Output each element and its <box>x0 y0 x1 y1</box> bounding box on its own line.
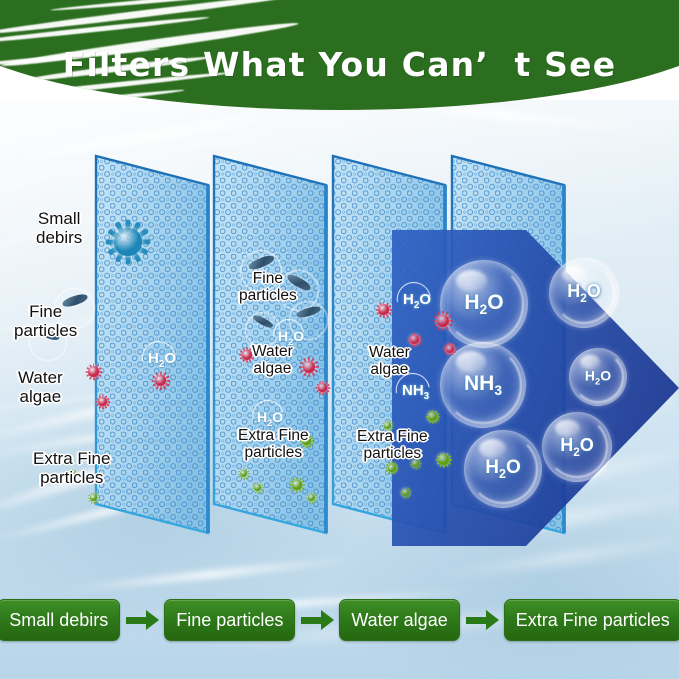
particle-algae-5 <box>300 358 318 376</box>
particle-extrafine-12 <box>436 452 451 467</box>
particle-extrafine-3 <box>238 468 249 479</box>
legend-flow-bar: Small debirsFine particlesWater algaeExt… <box>0 597 679 643</box>
bubble-label: H2O <box>543 435 611 459</box>
bubble-label: H2O <box>550 281 618 305</box>
legend-water-algae[interactable]: Water algae <box>339 599 459 641</box>
bubble-bubble-h2o-d: H2O <box>542 412 612 482</box>
particle-extrafine-5 <box>252 482 263 493</box>
label-fine-particles-2: Fine particles <box>239 271 297 304</box>
particle-algae-3 <box>96 395 109 408</box>
molecule-h2o-mesh-1: H2O <box>148 350 176 370</box>
legend-fine-particles-label: Fine particles <box>176 610 283 631</box>
particle-algae-10 <box>444 343 456 355</box>
bubble-bubble-h2o-e: H2O <box>464 430 542 508</box>
legend-water-algae-label: Water algae <box>351 610 447 631</box>
particle-algae-6 <box>316 381 329 394</box>
label-water-algae-2: Water algae <box>252 344 293 377</box>
molecule-h2o-mesh-4: H2O <box>403 291 431 311</box>
particle-small-debris-1 <box>108 222 148 262</box>
particle-algae-7 <box>376 302 391 317</box>
arrow-right-icon <box>120 600 164 640</box>
arrow-right-icon <box>460 600 504 640</box>
label-water-algae-3: Water algae <box>369 345 410 378</box>
particle-algae-8 <box>434 312 452 330</box>
particle-extrafine-9 <box>426 410 439 423</box>
particle-extrafine-7 <box>306 492 317 503</box>
bubble-label: H2O <box>465 457 541 481</box>
bubble-bubble-h2o-b: H2O <box>549 258 619 328</box>
clean-water-arrow: H2OH2ONH3H2OH2OH2O <box>392 222 679 554</box>
infographic-stage: Filters What You Can’ t See <box>0 0 679 679</box>
particle-extrafine-2 <box>88 492 99 503</box>
legend-extra-fine[interactable]: Extra Fine particles <box>504 599 679 641</box>
bubble-label: H2O <box>441 291 527 317</box>
bubble-label: NH3 <box>441 372 525 398</box>
bubble-bubble-h2o-a: H2O <box>440 260 528 348</box>
particle-algae-1 <box>86 364 101 379</box>
molecule-h2o-mesh-3: H2O <box>257 409 283 428</box>
label-extra-fine-3: Extra Fine particles <box>357 429 428 462</box>
label-water-algae-1: Water algae <box>18 369 63 406</box>
molecule-nh3-mesh-1: NH3 <box>402 382 429 402</box>
particle-extrafine-13 <box>400 487 411 498</box>
particle-extrafine-10 <box>386 462 398 474</box>
bubble-bubble-h2o-c: H2O <box>569 348 627 406</box>
legend-extra-fine-label: Extra Fine particles <box>516 610 670 631</box>
legend-small-debris[interactable]: Small debirs <box>0 599 120 641</box>
arrow-right-icon <box>295 600 339 640</box>
label-small-debris: Small debirs <box>36 210 82 247</box>
particle-extrafine-6 <box>290 478 304 492</box>
label-extra-fine-1: Extra Fine particles <box>33 450 110 487</box>
label-extra-fine-2: Extra Fine particles <box>238 428 309 461</box>
legend-fine-particles[interactable]: Fine particles <box>164 599 295 641</box>
label-fine-particles-1: Fine particles <box>14 303 77 340</box>
legend-small-debris-label: Small debirs <box>9 610 108 631</box>
bubble-label: H2O <box>570 368 626 387</box>
